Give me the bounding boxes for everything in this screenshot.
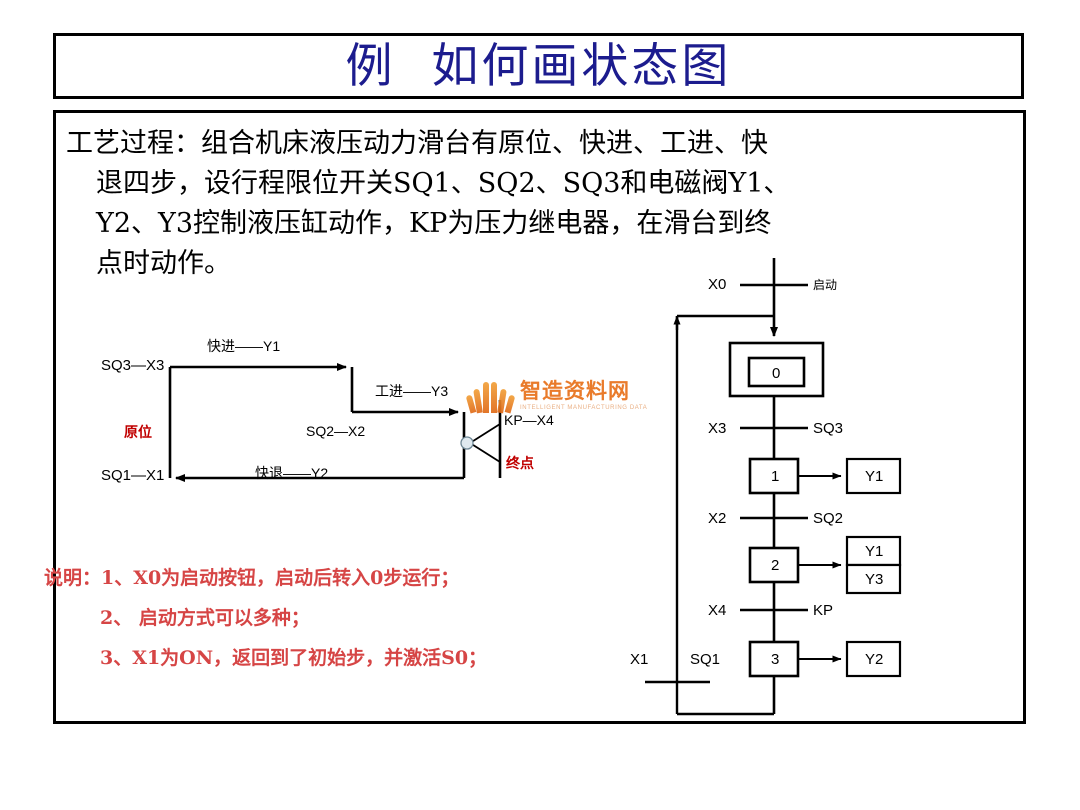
label-fast-return: 快退——Y2 [255,466,328,480]
sfc-transition-0-left: X3 [708,421,726,436]
sfc-transition-start-left: X0 [708,277,726,292]
page-title: 例 如何画状态图 [346,43,732,90]
label-fast-forward: 快进——Y1 [207,339,280,353]
watermark-en-text: INTELLIGENT MANUFACTURING DATA [520,405,647,411]
label-sq1-x1: SQ1—X1 [101,468,164,483]
sfc-step-3-action-0: Y2 [865,652,883,667]
sfc-step-3-id: 3 [771,652,779,667]
process-description: 工艺过程：组合机床液压动力滑台有原位、快进、工进、快 退四步，设行程限位开关SQ… [66,124,1006,284]
sfc-return-transition-left: X1 [630,652,648,667]
description-line-1: 工艺过程：组合机床液压动力滑台有原位、快进、工进、快 [66,124,1006,164]
title-box: 例 如何画状态图 [53,33,1024,99]
note-item-3: 3、X1为ON，返回到了初始步，并激活S0； [44,638,604,678]
sfc-transition-2-right: KP [813,603,833,618]
sfc-step-1-action-0: Y1 [865,469,883,484]
label-work-forward: 工进——Y3 [375,384,448,398]
sfc-transition-2-left: X4 [708,603,726,618]
notes-block: 说明：1、X0为启动按钮，启动后转入0步运行； 2、 启动方式可以多种； 3、X… [44,558,604,678]
description-line-2: 退四步，设行程限位开关SQ1、SQ2、SQ3和电磁阀Y1、 [66,164,1006,204]
label-sq2-x2: SQ2—X2 [306,424,365,438]
note-item-1: 说明：1、X0为启动按钮，启动后转入0步运行； [44,558,604,598]
sfc-transition-1-right: SQ2 [813,511,843,526]
watermark: 智造资料网 INTELLIGENT MANUFACTURING DATA [468,379,647,413]
watermark-cn-text: 智造资料网 [520,381,647,402]
sfc-return-transition-right: SQ1 [690,652,720,667]
sfc-transition-start-right: 启动 [813,279,837,291]
description-line-3: Y2、Y3控制液压缸动作，KP为压力继电器，在滑台到终 [66,204,1006,244]
sfc-step-2-action-1: Y3 [865,572,883,587]
slide-canvas: 例 如何画状态图 工艺过程：组合机床液压动力滑台有原位、快进、工进、快 退四步，… [0,0,1080,810]
note-item-2: 2、 启动方式可以多种； [44,598,604,638]
sfc-transition-1-left: X2 [708,511,726,526]
label-sq3-x3: SQ3—X3 [101,358,164,373]
sfc-step-2-id: 2 [771,558,779,573]
sfc-step-1-id: 1 [771,469,779,484]
watermark-logo-icon [468,379,514,413]
sfc-step-0-id: 0 [772,366,780,381]
label-kp-x4: KP—X4 [504,413,554,427]
sfc-transition-0-right: SQ3 [813,421,843,436]
label-endpoint: 终点 [506,456,534,470]
description-line-4: 点时动作。 [66,244,1006,284]
label-origin: 原位 [124,425,152,439]
sfc-step-2-action-0: Y1 [865,544,883,559]
